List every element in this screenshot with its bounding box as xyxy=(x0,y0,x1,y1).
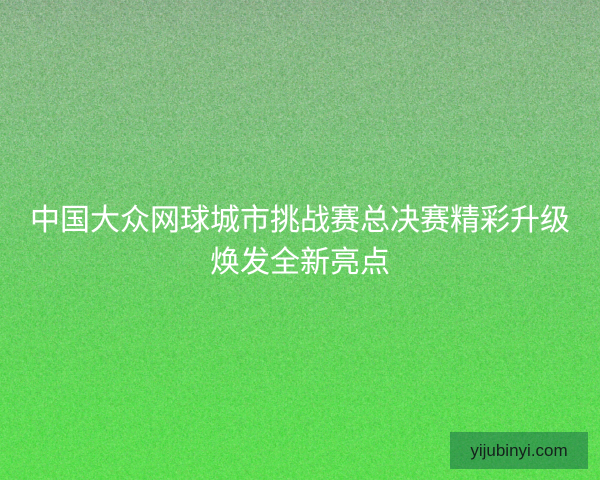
background-noise-texture-fine xyxy=(0,0,600,480)
watermark-badge: yijubinyi.com xyxy=(450,432,588,469)
watermark-label: yijubinyi.com xyxy=(470,442,567,459)
promo-banner: 中国大众网球城市挑战赛总决赛精彩升级 焕发全新亮点 yijubinyi.com xyxy=(0,0,600,480)
